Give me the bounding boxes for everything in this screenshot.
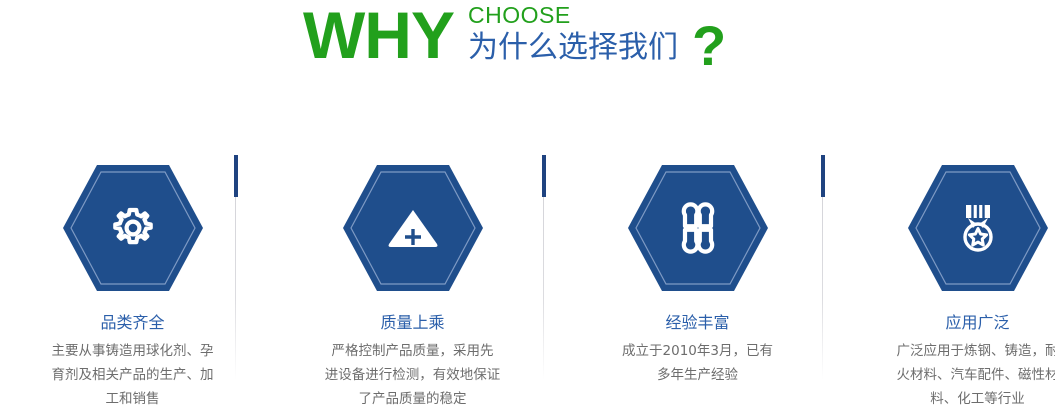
feature-description-line: 料、化工等行业 <box>853 387 1055 411</box>
header-chinese-title: 为什么选择我们 <box>468 30 678 66</box>
feature-description: 成立于2010年3月，已有 多年生产经验 <box>565 339 830 387</box>
header-choose-word: CHOOSE <box>468 2 678 28</box>
feature-description-line: 广泛应用于炼钢、铸造，耐 <box>853 339 1055 363</box>
page-header: WHY CHOOSE 为什么选择我们 ? <box>0 0 1055 95</box>
feature-title: 质量上乘 <box>280 313 545 333</box>
feature-description-line: 主要从事铸造用球化剂、孕 <box>8 339 257 363</box>
feature-description: 广泛应用于炼钢、铸造，耐 火材料、汽车配件、磁性材 料、化工等行业 <box>845 339 1055 411</box>
question-mark-icon: ? <box>692 0 726 74</box>
feature-description-line: 育剂及相关产品的生产、加 <box>8 363 257 387</box>
hexagon-badge-1 <box>61 163 205 293</box>
feature-description-line: 工和销售 <box>8 387 257 411</box>
features-section: 品类齐全 主要从事铸造用球化剂、孕 育剂及相关产品的生产、加 工和销售 质量上乘… <box>0 95 1055 416</box>
feature-description: 严格控制产品质量，采用先 进设备进行检测，有效地保证 了产品质量的稳定 <box>280 339 545 411</box>
header-text-stack: CHOOSE 为什么选择我们 <box>468 0 678 66</box>
feature-title: 应用广泛 <box>845 313 1055 333</box>
feature-column-3: 经验丰富 成立于2010年3月，已有 多年生产经验 <box>565 95 830 416</box>
hexagon-badge-3 <box>626 163 770 293</box>
clover-icon <box>626 163 770 293</box>
feature-description-line: 成立于2010年3月，已有 <box>573 339 822 363</box>
header-title-group: WHY CHOOSE 为什么选择我们 ? <box>303 0 726 74</box>
feature-description-line: 严格控制产品质量，采用先 <box>288 339 537 363</box>
triangle-plus-icon <box>341 163 485 293</box>
medal-star-icon <box>906 163 1050 293</box>
hexagon-badge-4 <box>906 163 1050 293</box>
gear-icon <box>61 163 205 293</box>
header-why-word: WHY <box>303 0 454 68</box>
feature-title: 经验丰富 <box>565 313 830 333</box>
feature-column-2: 质量上乘 严格控制产品质量，采用先 进设备进行检测，有效地保证 了产品质量的稳定 <box>280 95 545 416</box>
feature-column-1: 品类齐全 主要从事铸造用球化剂、孕 育剂及相关产品的生产、加 工和销售 <box>0 95 265 416</box>
feature-description-line: 进设备进行检测，有效地保证 <box>288 363 537 387</box>
feature-column-4: 应用广泛 广泛应用于炼钢、铸造，耐 火材料、汽车配件、磁性材 料、化工等行业 <box>845 95 1055 416</box>
hexagon-badge-2 <box>341 163 485 293</box>
feature-description-line: 了产品质量的稳定 <box>288 387 537 411</box>
feature-title: 品类齐全 <box>0 313 265 333</box>
feature-description-line: 火材料、汽车配件、磁性材 <box>853 363 1055 387</box>
feature-description: 主要从事铸造用球化剂、孕 育剂及相关产品的生产、加 工和销售 <box>0 339 265 411</box>
feature-description-line: 多年生产经验 <box>573 363 822 387</box>
